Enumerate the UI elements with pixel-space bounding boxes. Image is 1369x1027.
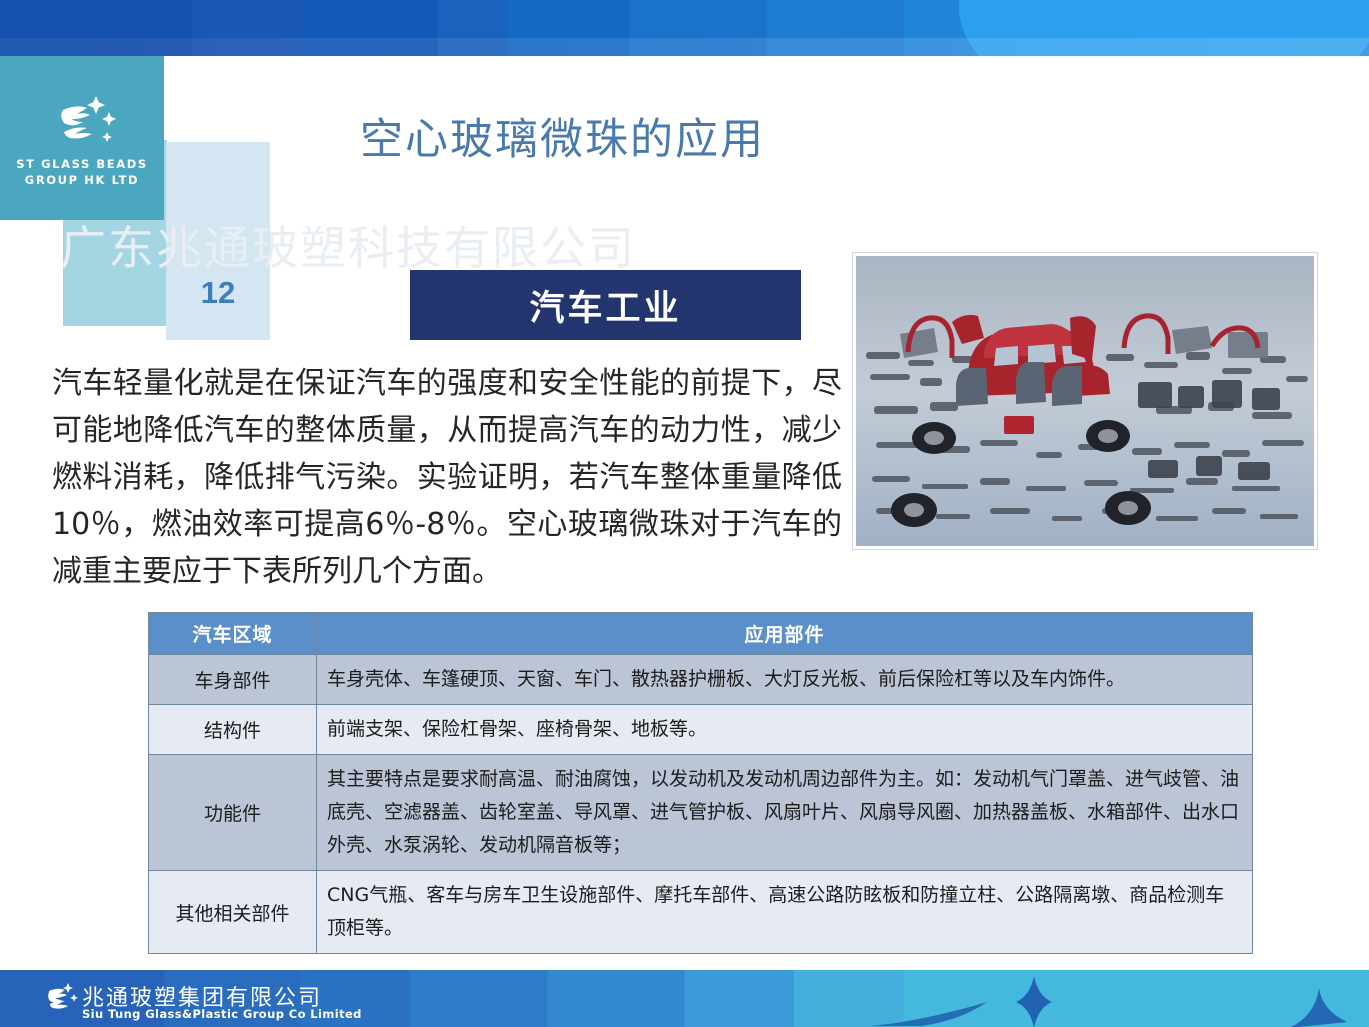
cell-parts: 其主要特点是要求耐高温、耐油腐蚀，以发动机及发动机周边部件为主。如：发动机气门罩… <box>317 755 1253 871</box>
section-banner-label: 汽车工业 <box>529 280 681 331</box>
page-number-badge: 12 <box>166 275 270 311</box>
table-head: 汽车区域 应用部件 <box>149 613 1253 655</box>
footer-sparkle-small-icon <box>1289 988 1349 1027</box>
footer-company-en: Siu Tung Glass&Plastic Group Co Limited <box>82 1007 362 1021</box>
page-title: 空心玻璃微珠的应用 <box>360 105 765 167</box>
table-row: 其他相关部件 CNG气瓶、客车与房车卫生设施部件、摩托车部件、高速公路防眩板和防… <box>149 871 1253 954</box>
table-row: 结构件 前端支架、保险杠骨架、座椅骨架、地板等。 <box>149 705 1253 755</box>
top-decorative-banner <box>0 0 1369 56</box>
table-row: 车身部件 车身壳体、车篷硬顶、天窗、车门、散热器护栅板、大灯反光板、前后保险杠等… <box>149 655 1253 705</box>
cell-parts: 前端支架、保险杠骨架、座椅骨架、地板等。 <box>317 705 1253 755</box>
body-paragraph: 汽车轻量化就是在保证汽车的强度和安全性能的前提下，尽可能地降低汽车的整体质量，从… <box>52 360 842 595</box>
cell-area: 其他相关部件 <box>149 871 317 954</box>
section-banner: 汽车工业 <box>410 270 801 340</box>
footer-swoosh-icon <box>869 1000 989 1026</box>
footer-sparkle-large-icon <box>999 976 1069 1027</box>
footer-logo-icon <box>38 979 78 1017</box>
table-body: 车身部件 车身壳体、车篷硬顶、天窗、车门、散热器护栅板、大灯反光板、前后保险杠等… <box>149 655 1253 954</box>
cell-area: 结构件 <box>149 705 317 755</box>
column-header-parts: 应用部件 <box>317 613 1253 655</box>
cell-parts: CNG气瓶、客车与房车卫生设施部件、摩托车部件、高速公路防眩板和防撞立柱、公路隔… <box>317 871 1253 954</box>
cell-parts: 车身壳体、车篷硬顶、天窗、车门、散热器护栅板、大灯反光板、前后保险杠等以及车内饰… <box>317 655 1253 705</box>
car-parts-photo <box>853 253 1317 549</box>
table-header-row: 汽车区域 应用部件 <box>149 613 1253 655</box>
table-row: 功能件 其主要特点是要求耐高温、耐油腐蚀，以发动机及发动机周边部件为主。如：发动… <box>149 755 1253 871</box>
automotive-applications-table: 汽车区域 应用部件 车身部件 车身壳体、车篷硬顶、天窗、车门、散热器护栅板、大灯… <box>148 612 1253 954</box>
cell-area: 功能件 <box>149 755 317 871</box>
column-header-area: 汽车区域 <box>149 613 317 655</box>
cell-area: 车身部件 <box>149 655 317 705</box>
banner-sheen <box>0 38 1369 56</box>
logo-text-line2: GROUP HK LTD <box>25 173 139 187</box>
st-glass-beads-logo-icon <box>43 90 121 152</box>
logo-text-line1: ST GLASS BEADS <box>16 157 148 171</box>
footer-bar: 兆通玻塑集团有限公司 Siu Tung Glass&Plastic Group … <box>0 970 1369 1027</box>
company-logo-box: ST GLASS BEADS GROUP HK LTD <box>0 56 164 220</box>
